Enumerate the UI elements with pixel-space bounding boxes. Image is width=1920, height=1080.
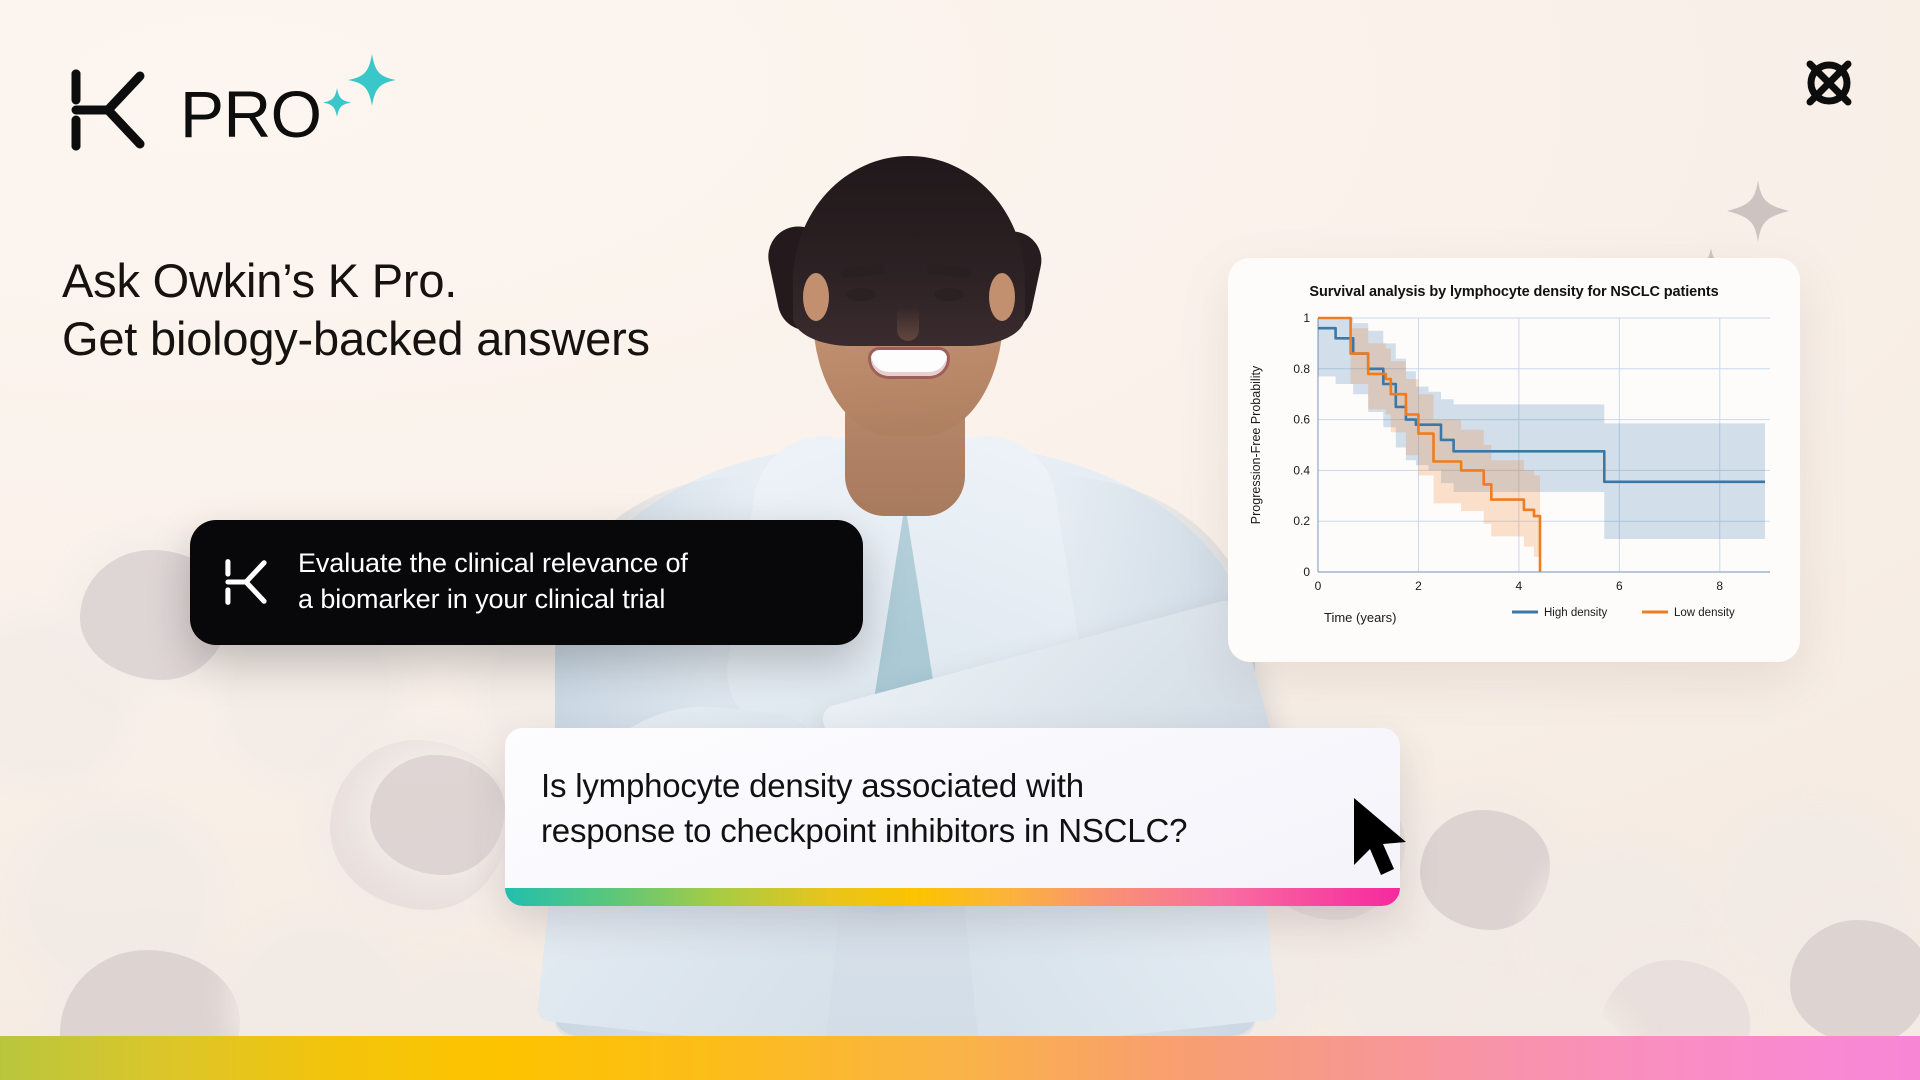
svg-text:8: 8: [1716, 579, 1723, 593]
page-title: Ask Owkin’s K Pro. Get biology-backed an…: [62, 252, 650, 369]
bottom-gradient-bar: [0, 1036, 1920, 1080]
svg-text:0: 0: [1303, 565, 1310, 579]
owkin-circle-x-icon[interactable]: [1798, 52, 1860, 114]
sparkle-icon: [1725, 178, 1791, 244]
owkin-k-logo-icon: [220, 552, 272, 612]
svg-text:0.4: 0.4: [1293, 463, 1310, 477]
svg-text:6: 6: [1616, 579, 1623, 593]
product-name-pro: PRO: [180, 81, 322, 147]
accent-gradient-bar: [505, 888, 1400, 906]
brand-logo-lockup: PRO: [62, 60, 322, 160]
banner-stage: PRO Ask Owkin’s K Pro. Get biology-backe…: [0, 0, 1920, 1080]
owkin-k-logo-icon: [62, 60, 154, 160]
prompt-line-2: a biomarker in your clinical trial: [298, 584, 665, 614]
svg-text:High density: High density: [1544, 607, 1608, 619]
svg-text:0: 0: [1315, 579, 1322, 593]
question-input-card[interactable]: Is lymphocyte density associated with re…: [505, 728, 1400, 906]
svg-text:2: 2: [1415, 579, 1422, 593]
mouse-pointer-icon: [1350, 795, 1414, 881]
svg-text:0.6: 0.6: [1293, 413, 1310, 427]
headline-line-1: Ask Owkin’s K Pro.: [62, 254, 457, 307]
kaplan-meier-chart: 0246800.20.40.60.81Time (years)Progressi…: [1244, 304, 1784, 634]
svg-text:Progression-Free Probability: Progression-Free Probability: [1249, 365, 1263, 524]
svg-text:4: 4: [1516, 579, 1523, 593]
question-text: Is lymphocyte density associated with re…: [505, 728, 1400, 888]
svg-text:Low density: Low density: [1674, 607, 1735, 619]
headline-line-2: Get biology-backed answers: [62, 310, 650, 368]
chart-title: Survival analysis by lymphocyte density …: [1244, 284, 1784, 300]
svg-text:0.2: 0.2: [1293, 514, 1310, 528]
svg-text:Time (years): Time (years): [1324, 610, 1396, 625]
question-line-1: Is lymphocyte density associated with: [541, 767, 1084, 804]
prompt-suggestion-card[interactable]: Evaluate the clinical relevance of a bio…: [190, 520, 863, 645]
prompt-card-text: Evaluate the clinical relevance of a bio…: [298, 546, 688, 617]
question-line-2: response to checkpoint inhibitors in NSC…: [541, 812, 1187, 849]
prompt-line-1: Evaluate the clinical relevance of: [298, 548, 688, 578]
survival-chart-card: Survival analysis by lymphocyte density …: [1228, 258, 1800, 662]
svg-text:0.8: 0.8: [1293, 362, 1310, 376]
svg-text:1: 1: [1303, 311, 1310, 325]
sparkle-icon: [320, 48, 398, 126]
